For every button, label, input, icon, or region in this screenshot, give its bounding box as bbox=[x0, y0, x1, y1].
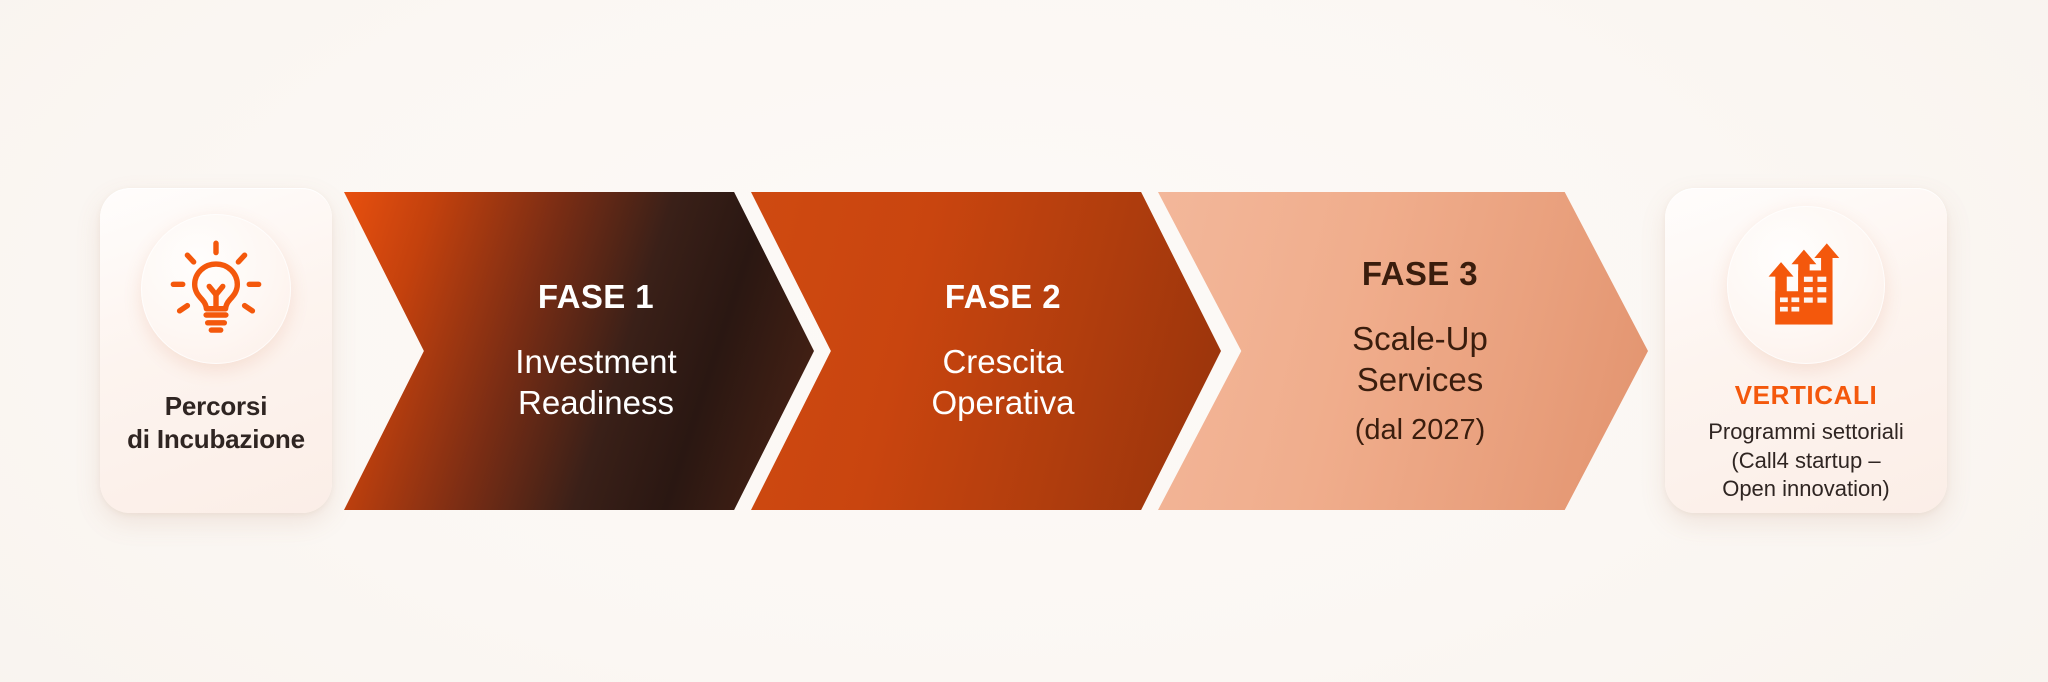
phase-3-desc-line1: Scale-Up bbox=[1352, 319, 1488, 360]
incubation-title-line2: di Incubazione bbox=[127, 423, 305, 456]
verticali-title: VERTICALI bbox=[1735, 380, 1878, 411]
growth-buildings-icon-disc bbox=[1727, 206, 1885, 364]
phase-2-desc-line1: Crescita bbox=[931, 342, 1074, 383]
infographic-canvas: Percorsi di Incubazione FASE 1 Investmen… bbox=[0, 0, 2048, 682]
phase-chevron-1[interactable]: FASE 1 Investment Readiness bbox=[344, 192, 814, 510]
incubation-card[interactable]: Percorsi di Incubazione bbox=[100, 188, 332, 513]
phase-1-label: FASE 1 bbox=[515, 278, 676, 316]
phase-2-label: FASE 2 bbox=[931, 278, 1074, 316]
phase-3-label: FASE 3 bbox=[1352, 255, 1488, 293]
verticali-body-line3: Open innovation) bbox=[1708, 475, 1904, 504]
phase-1-desc-line2: Readiness bbox=[515, 383, 676, 424]
verticali-body-line2: (Call4 startup – bbox=[1708, 447, 1904, 476]
phase-1-content: FASE 1 Investment Readiness bbox=[471, 278, 686, 423]
phase-chevron-3[interactable]: FASE 3 Scale-Up Services (dal 2027) bbox=[1158, 192, 1648, 510]
verticali-card[interactable]: VERTICALI Programmi settoriali (Call4 st… bbox=[1665, 188, 1947, 513]
phase-3-desc-line2: Services bbox=[1352, 360, 1488, 401]
incubation-title-line1: Percorsi bbox=[127, 390, 305, 423]
incubation-card-text: Percorsi di Incubazione bbox=[127, 390, 305, 457]
phase-2-desc-line2: Operativa bbox=[931, 383, 1074, 424]
lightbulb-icon bbox=[164, 237, 268, 341]
verticali-body: Programmi settoriali (Call4 startup – Op… bbox=[1700, 418, 1912, 504]
phase-chevron-band: FASE 1 Investment Readiness FASE 2 Cresc… bbox=[344, 192, 1648, 510]
verticali-body-line1: Programmi settoriali bbox=[1708, 418, 1904, 447]
phase-3-note: (dal 2027) bbox=[1352, 414, 1488, 447]
phase-1-desc-line1: Investment bbox=[515, 342, 676, 383]
lightbulb-icon-disc bbox=[141, 214, 291, 364]
phase-3-content: FASE 3 Scale-Up Services (dal 2027) bbox=[1308, 255, 1498, 447]
phase-2-content: FASE 2 Crescita Operativa bbox=[887, 278, 1084, 423]
phase-chevron-2[interactable]: FASE 2 Crescita Operativa bbox=[751, 192, 1221, 510]
growth-buildings-icon bbox=[1754, 233, 1858, 337]
